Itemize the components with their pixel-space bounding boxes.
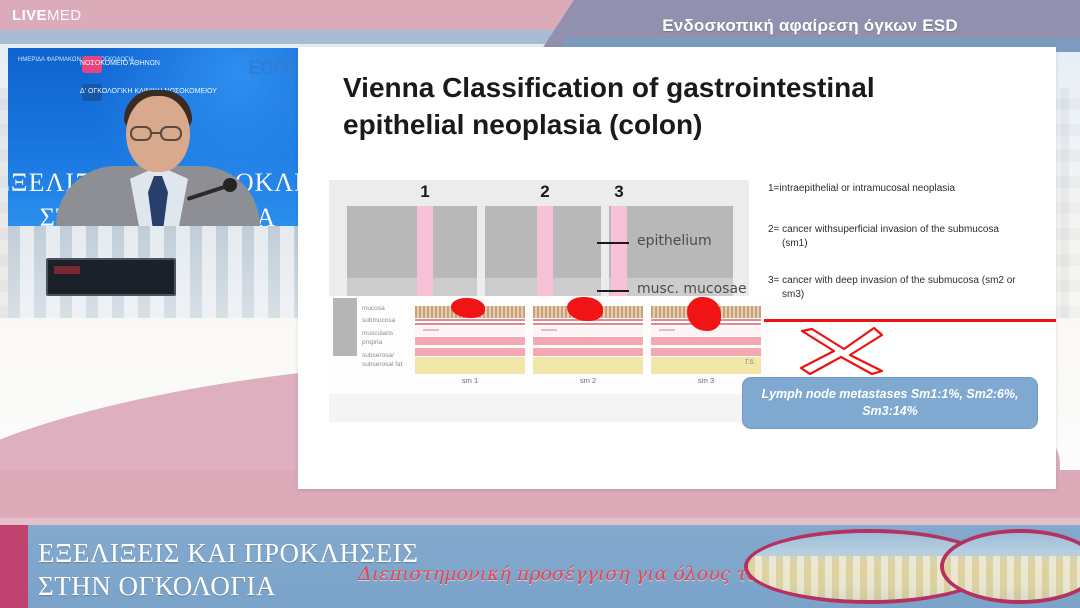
definition-1: 1=intraepithelial or intramucosal neopla… xyxy=(768,182,1046,197)
panel1-muscularis-1 xyxy=(415,337,525,345)
histology-panel-sm1 xyxy=(415,300,525,372)
red-cross-out-annotation xyxy=(798,327,884,375)
red-underline-annotation xyxy=(764,319,1056,322)
label-musc-mucosae: musc. mucosae xyxy=(637,281,747,297)
leader-epithelium xyxy=(597,242,629,244)
logo-med: MED xyxy=(47,7,82,24)
presentation-slide[interactable]: Vienna Classification of gastrointestina… xyxy=(298,47,1056,489)
session-title: Ενδοσκοπική αφαίρεση όγκων ESD xyxy=(540,0,1080,52)
column-gap-1 xyxy=(477,206,485,306)
lymph-node-callout: Lymph node metastases Sm1:1%, Sm2:6%, Sm… xyxy=(742,377,1038,429)
leader-musc-mucosae xyxy=(597,290,629,292)
speaker-video-thumbnail[interactable]: ΗΜΕΡΙΔΑ ΦΑΡΜΑΚΩΝ ΣΤΗΝ ΟΓΚΟΛΟΓΙΑ ΝΟΣΟΚΟΜΕ… xyxy=(8,48,304,318)
app-window: Ενδοσκοπική αφαίρεση όγκων ESD LIVEMED Η… xyxy=(0,0,1080,608)
histology-side-labels: mucosa submucosa muscularis propria subs… xyxy=(362,304,410,373)
definition-2: 2= cancer withsuperficial invasion of th… xyxy=(768,223,1046,252)
footer-photo-2-image xyxy=(944,533,1080,600)
laptop-icon xyxy=(46,258,176,296)
slide-title-line1: Vienna Classification of gastrointestina… xyxy=(343,72,875,103)
panel1-fat xyxy=(415,357,525,374)
column-number-3: 3 xyxy=(607,182,631,202)
hospital-name-line1: ΝΟΣΟΚΟΜΕΙΟ ΑΘΗΝΩΝ xyxy=(80,58,160,70)
histology-strip: mucosa submucosa muscularis propria subs… xyxy=(329,296,775,394)
red-x-icon xyxy=(798,327,884,375)
column-number-2: 2 xyxy=(533,182,557,202)
histology-label-submucosa: submucosa xyxy=(362,316,410,325)
panel1-submucosa xyxy=(415,326,525,336)
panel3-muscularis-2 xyxy=(651,348,761,356)
histology-grey-block xyxy=(333,298,357,356)
panel1-line-2 xyxy=(415,323,525,325)
histology-caption-sm1: sm 1 xyxy=(415,376,525,385)
footer-banner: ΕΞΕΛΙΞΕΙΣ ΚΑΙ ΠΡΟΚΛΗΣΕΙΣ ΣΤΗΝ ΟΓΚΟΛΟΓΙΑ … xyxy=(0,525,1080,608)
panel2-muscularis-2 xyxy=(533,348,643,356)
histology-label-muscularis-propria: muscularis propria xyxy=(362,329,410,348)
definition-2-indent: (sm1) xyxy=(768,237,1046,252)
panel2-muscularis-1 xyxy=(533,337,643,345)
definition-2-text: 2= cancer withsuperficial invasion of th… xyxy=(768,224,999,235)
glasses-bridge-icon xyxy=(152,132,160,134)
panel2-fat xyxy=(533,357,643,374)
definition-3-text: 3= cancer with deep invasion of the subm… xyxy=(768,275,1016,286)
vienna-definitions: 1=intraepithelial or intramucosal neopla… xyxy=(768,182,1046,303)
histology-panel-sm2 xyxy=(533,300,643,372)
glasses-right-lens-icon xyxy=(160,126,182,141)
footer-title-line2: ΣΤΗΝ ΟΓΚΟΛΟΓΙΑ xyxy=(38,571,276,601)
panel2-line-2 xyxy=(533,323,643,325)
histology-caption-sm2: sm 2 xyxy=(533,376,643,385)
logo-live: LIVE xyxy=(12,7,47,24)
definition-3: 3= cancer with deep invasion of the subm… xyxy=(768,274,1046,303)
label-epithelium: epithelium xyxy=(637,233,712,249)
eope-logo: ΕΟΠΕ xyxy=(248,58,298,80)
footer-accent-bar xyxy=(0,525,28,608)
histology-label-mucosa: mucosa xyxy=(362,304,410,313)
slide-title-line2: epithelial neoplasia (colon) xyxy=(343,109,702,140)
column-number-1: 1 xyxy=(413,182,437,202)
footer-hospital-photo-2 xyxy=(940,529,1080,604)
glasses-left-lens-icon xyxy=(130,126,152,141)
panel2-submucosa xyxy=(533,326,643,336)
panel1-muscularis-2 xyxy=(415,348,525,356)
panel3-muscularis-1 xyxy=(651,337,761,345)
definition-3-indent: sm3) xyxy=(768,288,1046,303)
panel1-line-1 xyxy=(415,319,525,321)
speaker-nameplate: Γ. Τριμπόνιας xyxy=(66,316,264,317)
lesion-bar-1 xyxy=(417,206,433,306)
livemed-logo[interactable]: LIVEMED xyxy=(12,7,82,24)
slide-title: Vienna Classification of gastrointestina… xyxy=(343,70,1023,144)
histology-label-subserosa: subserosa/ subserosal fat xyxy=(362,351,410,370)
histology-corner-mark: T.S. xyxy=(745,360,755,366)
microphone-head-icon xyxy=(223,178,237,192)
histology-panel-sm3: T.S. xyxy=(651,300,761,372)
